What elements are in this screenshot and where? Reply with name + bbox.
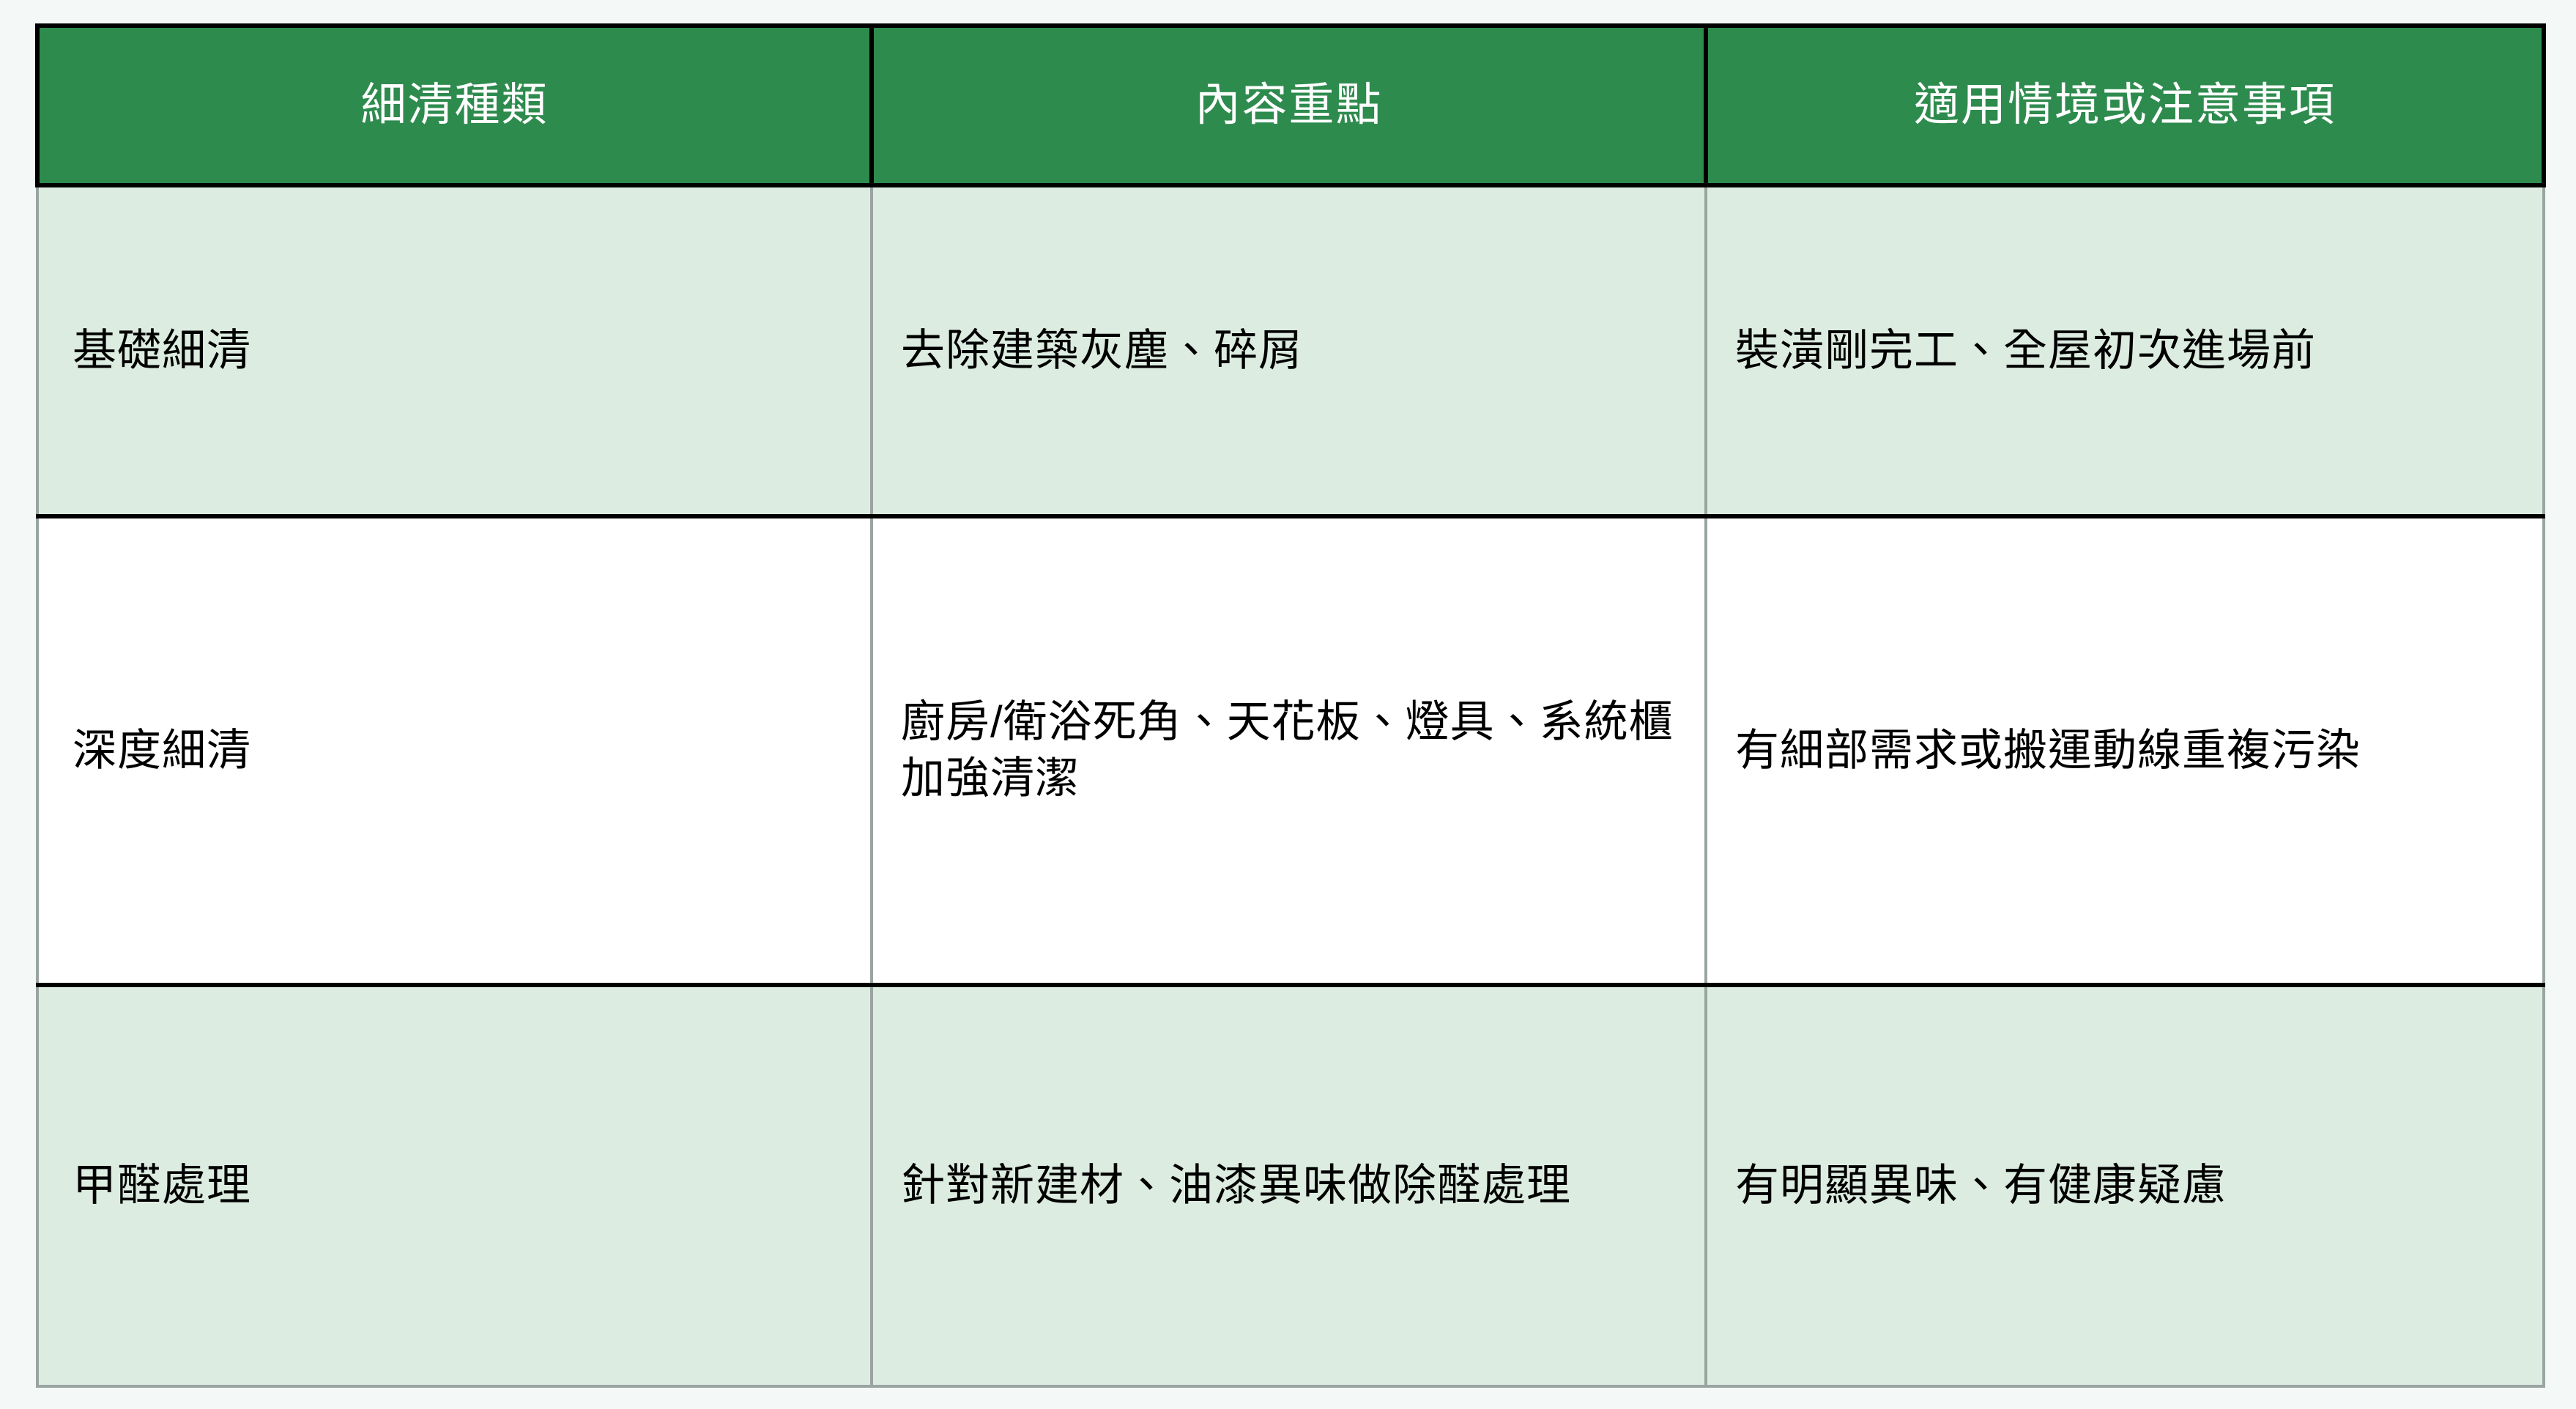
table-body: 基礎細清 去除建築灰塵、碎屑 裝潢剛完工、全屋初次進場前 深度細清 廚房/衛浴死… [37,185,2544,1386]
table-row: 甲醛處理 針對新建材、油漆異味做除醛處理 有明顯異味、有健康疑慮 [37,985,2544,1386]
cell-content: 針對新建材、油漆異味做除醛處理 [872,985,1706,1386]
column-header-content: 內容重點 [872,26,1706,185]
cell-usage: 裝潢剛完工、全屋初次進場前 [1706,185,2544,516]
header-row: 細清種類 內容重點 適用情境或注意事項 [37,26,2544,185]
cleaning-types-table: 細清種類 內容重點 適用情境或注意事項 基礎細清 去除建築灰塵、碎屑 裝潢剛完工… [35,23,2546,1388]
table-header: 細清種類 內容重點 適用情境或注意事項 [37,26,2544,185]
cell-content: 廚房/衛浴死角、天花板、燈具、系統櫃加強清潔 [872,516,1706,985]
column-header-type: 細清種類 [37,26,872,185]
cell-usage: 有細部需求或搬運動線重複污染 [1706,516,2544,985]
cell-type: 基礎細清 [37,185,872,516]
column-header-usage: 適用情境或注意事項 [1706,26,2544,185]
cell-type: 深度細清 [37,516,872,985]
cell-type: 甲醛處理 [37,985,872,1386]
table-row: 深度細清 廚房/衛浴死角、天花板、燈具、系統櫃加強清潔 有細部需求或搬運動線重複… [37,516,2544,985]
cell-content: 去除建築灰塵、碎屑 [872,185,1706,516]
table-row: 基礎細清 去除建築灰塵、碎屑 裝潢剛完工、全屋初次進場前 [37,185,2544,516]
cell-usage: 有明顯異味、有健康疑慮 [1706,985,2544,1386]
comparison-table-container: 細清種類 內容重點 適用情境或注意事項 基礎細清 去除建築灰塵、碎屑 裝潢剛完工… [35,23,2542,1384]
